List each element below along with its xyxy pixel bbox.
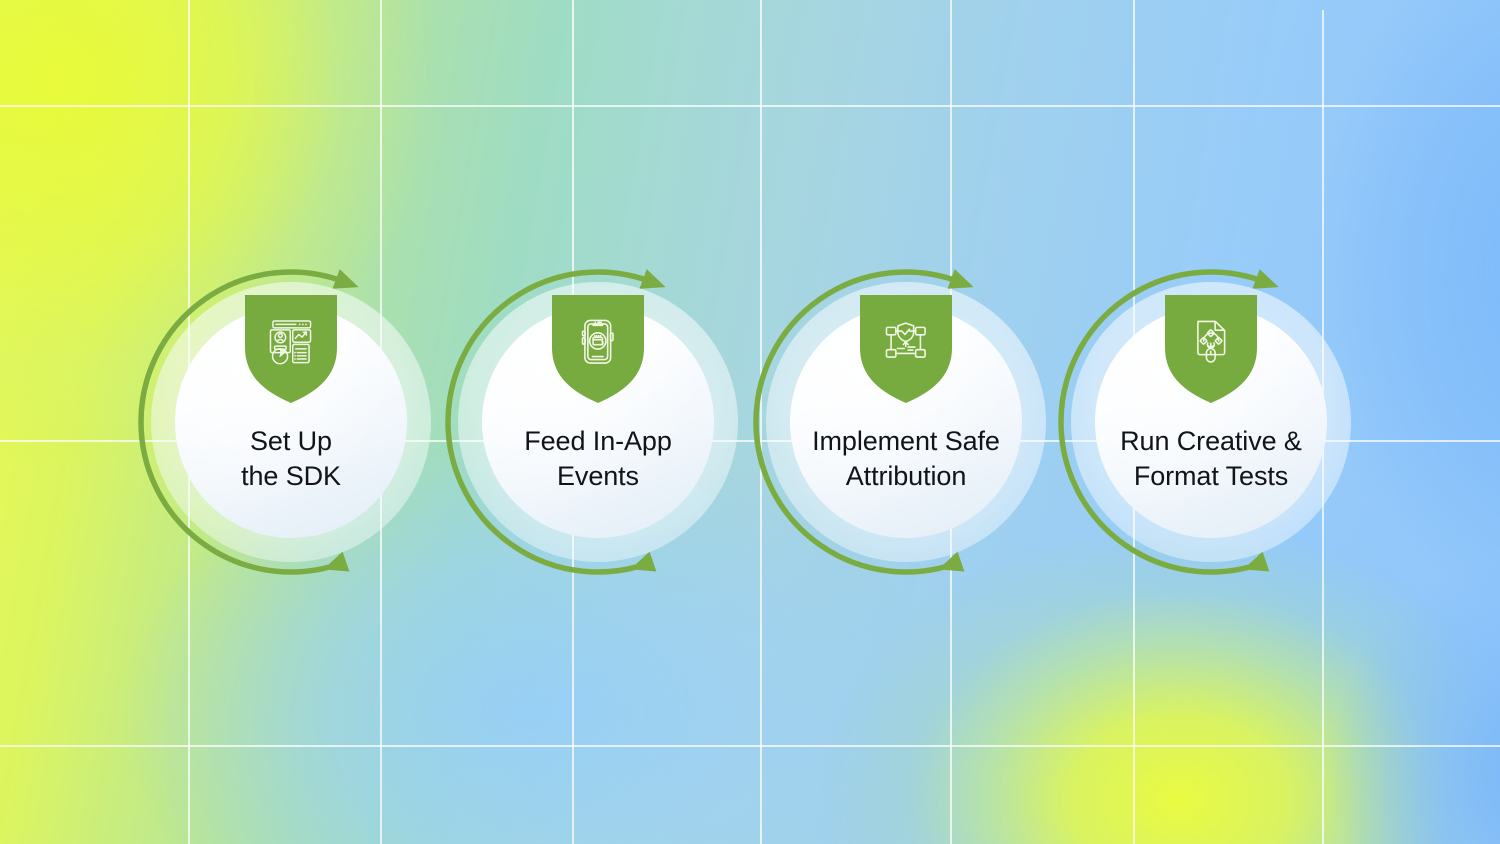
process-step-2[interactable]: Feed In-App Events — [458, 282, 738, 562]
step-shield-4 — [1161, 293, 1261, 405]
arrow-head-top-icon — [333, 269, 359, 289]
step-label-2: Feed In-App Events — [448, 424, 748, 493]
shield-check-network-icon — [856, 293, 956, 405]
step-label-4: Run Creative & Format Tests — [1061, 424, 1361, 493]
process-step-list: Set Up the SDK — [0, 0, 1500, 844]
infographic-canvas: Set Up the SDK — [0, 0, 1500, 844]
process-step-3[interactable]: Implement Safe Attribution — [766, 282, 1046, 562]
arrow-head-top-icon — [640, 269, 666, 289]
arrow-head-top-icon — [1253, 269, 1279, 289]
arrow-head-top-icon — [948, 269, 974, 289]
mobile-phone-icon — [548, 293, 648, 405]
step-shield-1 — [241, 293, 341, 405]
step-label-3: Implement Safe Attribution — [756, 424, 1056, 493]
step-shield-3 — [856, 293, 956, 405]
step-shield-2 — [548, 293, 648, 405]
document-vector-design-icon — [1161, 293, 1261, 405]
process-step-1[interactable]: Set Up the SDK — [151, 282, 431, 562]
process-step-4[interactable]: Run Creative & Format Tests — [1071, 282, 1351, 562]
step-label-1: Set Up the SDK — [141, 424, 441, 493]
dashboard-analytics-icon — [241, 293, 341, 405]
